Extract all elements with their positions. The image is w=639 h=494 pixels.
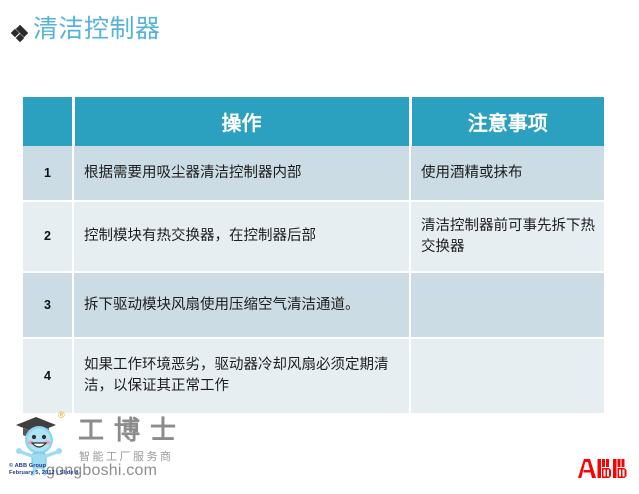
abb-logo <box>577 459 631 478</box>
abb-copyright-credit: © ABB Group February 5, 2012 | Slide 8 <box>9 463 78 477</box>
row-operation: 根据需要用吸尘器清洁控制器内部 <box>73 146 410 201</box>
row-number: 1 <box>23 146 73 201</box>
row-number: 2 <box>23 201 73 272</box>
row-note <box>410 272 604 338</box>
page-title: 清洁控制器 <box>12 15 161 45</box>
row-number: 3 <box>23 272 73 338</box>
table-row: 2 控制模块有热交换器，在控制器后部 清洁控制器前可事先拆下热交换器 <box>23 201 604 272</box>
column-header-operation: 操作 <box>73 97 410 146</box>
table-row: 1 根据需要用吸尘器清洁控制器内部 使用酒精或抹布 <box>23 146 604 201</box>
row-number: 4 <box>23 338 73 414</box>
table-row: 4 如果工作环境恶劣，驱动器冷却风扇必须定期清洁，以保证其正常工作 <box>23 338 604 414</box>
row-note: 清洁控制器前可事先拆下热交换器 <box>410 201 604 272</box>
row-note: 使用酒精或抹布 <box>410 146 604 201</box>
table-header-row: 操作 注意事项 <box>23 97 604 146</box>
column-header-number <box>23 97 73 146</box>
table-row: 3 拆下驱动模块风扇使用压缩空气清洁通道。 <box>23 272 604 338</box>
row-operation: 拆下驱动模块风扇使用压缩空气清洁通道。 <box>73 272 410 338</box>
gongboshi-brand-name: 工博士 <box>78 416 186 446</box>
registered-mark: ® <box>58 410 65 420</box>
abb-slide-line: February 5, 2012 | Slide 8 <box>9 470 78 477</box>
abb-copyright-line: © ABB Group <box>9 463 78 470</box>
row-operation: 控制模块有热交换器，在控制器后部 <box>73 201 410 272</box>
row-note <box>410 338 604 414</box>
column-header-notes: 注意事项 <box>410 97 604 146</box>
four-diamond-bullet-icon <box>12 26 27 41</box>
row-operation: 如果工作环境恶劣，驱动器冷却风扇必须定期清洁，以保证其正常工作 <box>73 338 410 414</box>
operations-table: 操作 注意事项 1 根据需要用吸尘器清洁控制器内部 使用酒精或抹布 2 控制模块… <box>23 97 604 415</box>
page-title-text: 清洁控制器 <box>33 15 161 45</box>
